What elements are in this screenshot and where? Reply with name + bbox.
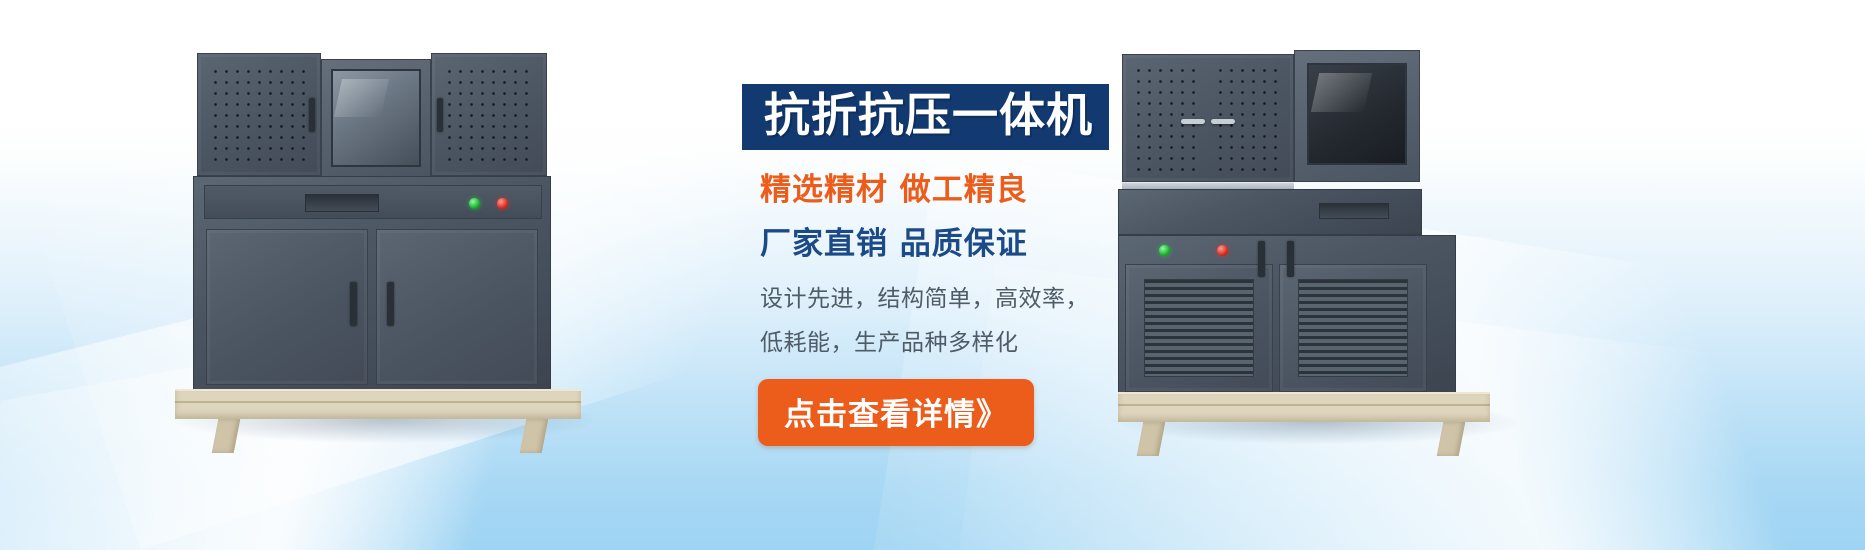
promo-banner: 抗折抗压一体机 精选精材 做工精良 厂家直销 品质保证 设计先进，结构简单，高效… [0, 0, 1865, 550]
left-machine-upper-right-cabinet [431, 53, 547, 176]
left-machine-lower-door-left[interactable] [206, 229, 368, 385]
cabinet-handle[interactable] [1181, 119, 1205, 124]
left-machine-control-panel [204, 185, 542, 219]
cabinet-handle[interactable] [350, 282, 357, 326]
right-machine-control-shelf [1118, 189, 1422, 235]
right-machine-pallet [1118, 392, 1490, 422]
power-indicator[interactable] [469, 198, 480, 209]
right-machine-monitor-enclosure [1294, 50, 1420, 182]
cabinet-handle[interactable] [387, 282, 394, 326]
control-panel-display [1319, 203, 1389, 219]
right-machine-lower-door-right[interactable] [1279, 264, 1427, 392]
right-machine-body [1118, 235, 1456, 397]
banner-title-bar: 抗折抗压一体机 [742, 84, 1109, 150]
screen-glare [334, 79, 389, 117]
banner-subtitle-primary: 精选精材 做工精良 [760, 164, 1162, 209]
banner-description-line-1: 设计先进，结构简单，高效率， [760, 279, 1162, 313]
perforation-icon [1215, 65, 1283, 171]
left-machine-upper-left-cabinet [197, 53, 321, 176]
page-title: 抗折抗压一体机 [764, 88, 1093, 142]
cabinet-handle[interactable] [437, 98, 443, 132]
banner-subtitle-secondary: 厂家直销 品质保证 [760, 218, 1162, 263]
perforation-icon [444, 66, 534, 163]
left-machine [175, 45, 595, 435]
perforation-icon [210, 66, 308, 163]
ventilation-grille-icon [1298, 279, 1408, 377]
right-machine [1118, 42, 1508, 437]
banner-description-line-2: 低耗能，生产品种多样化 [760, 323, 1162, 357]
right-machine-monitor [1307, 63, 1407, 165]
cabinet-handle[interactable] [309, 98, 315, 132]
left-machine-body [193, 176, 551, 396]
screen-glare [1311, 73, 1372, 112]
left-machine-pallet [175, 389, 581, 419]
alarm-indicator[interactable] [1217, 245, 1228, 256]
left-machine-lower-door-right[interactable] [376, 229, 538, 385]
alarm-indicator[interactable] [497, 198, 508, 209]
left-machine-screen [331, 69, 421, 167]
banner-text-block: 抗折抗压一体机 精选精材 做工精良 厂家直销 品质保证 设计先进，结构简单，高效… [742, 84, 1162, 446]
left-machine-screen-frame [321, 59, 431, 177]
cabinet-handle[interactable] [1287, 241, 1294, 277]
control-panel-display [305, 194, 379, 212]
cabinet-handle[interactable] [1211, 119, 1235, 124]
view-details-button-label: 点击查看详情》 [784, 397, 1008, 433]
cabinet-handle[interactable] [1258, 241, 1265, 277]
view-details-button[interactable]: 点击查看详情》 [758, 379, 1034, 446]
